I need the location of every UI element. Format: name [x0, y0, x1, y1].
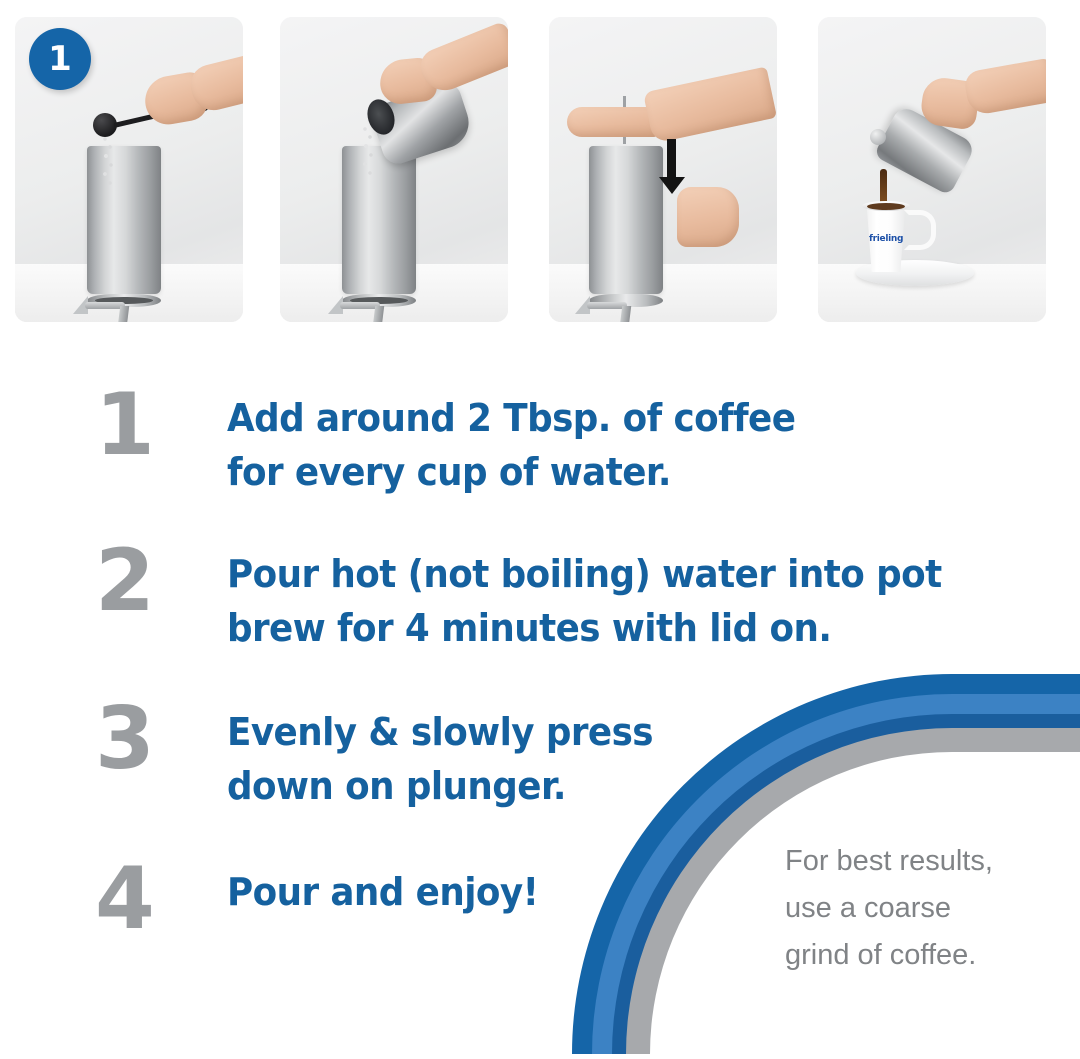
- instruction-text: Add around 2 Tbsp. of coffee for every c…: [227, 386, 795, 500]
- photo-panel-step-3: 3: [549, 17, 777, 322]
- pressing-hand: [567, 107, 659, 137]
- instruction-step-1: 1 Add around 2 Tbsp. of coffee for every…: [95, 386, 832, 500]
- instruction-number: 2: [95, 542, 227, 621]
- instruction-text: Pour hot (not boiling) water into pot br…: [227, 542, 942, 656]
- tip-text: For best results, use a coarse grind of …: [785, 838, 1080, 979]
- down-arrow-head: [659, 177, 685, 194]
- french-press-body: [342, 146, 416, 294]
- photo-panel-step-1: 1: [15, 17, 243, 322]
- mug-brand-logo: frieling: [869, 234, 903, 244]
- french-press-body: [589, 146, 663, 294]
- mug-coffee-surface: [867, 203, 905, 210]
- instruction-step-2: 2 Pour hot (not boiling) water into pot …: [95, 542, 987, 656]
- instruction-number: 4: [95, 860, 227, 939]
- mug-rim: [862, 201, 910, 211]
- mug-handle: [904, 210, 936, 250]
- down-arrow-icon: [667, 139, 676, 181]
- french-press-handle: [340, 302, 386, 322]
- lid-knob: [870, 129, 886, 145]
- water-stream: [362, 125, 374, 187]
- decorative-arc: [560, 594, 1080, 1054]
- instruction-step-4: 4 Pour and enjoy!: [95, 860, 558, 939]
- photo-panel-step-4: frieling 4: [818, 17, 1046, 322]
- french-press-handle: [587, 302, 633, 322]
- step-badge-1: 1: [29, 28, 91, 90]
- instruction-step-3: 3 Evenly & slowly press down on plunger.: [95, 700, 680, 814]
- coffee-grounds-stream: [102, 135, 114, 191]
- french-press-body: [87, 146, 161, 294]
- instruction-number: 3: [95, 700, 227, 779]
- instruction-number: 1: [95, 386, 227, 465]
- photo-panel-step-2: 2: [280, 17, 508, 322]
- instruction-text: Evenly & slowly press down on plunger.: [227, 700, 653, 814]
- french-press-handle: [85, 302, 131, 322]
- instruction-text: Pour and enjoy!: [227, 860, 538, 920]
- photo-strip: 1 2: [0, 0, 1080, 340]
- gripping-hand: [677, 187, 739, 247]
- decorative-arc-svg: [560, 594, 1080, 1054]
